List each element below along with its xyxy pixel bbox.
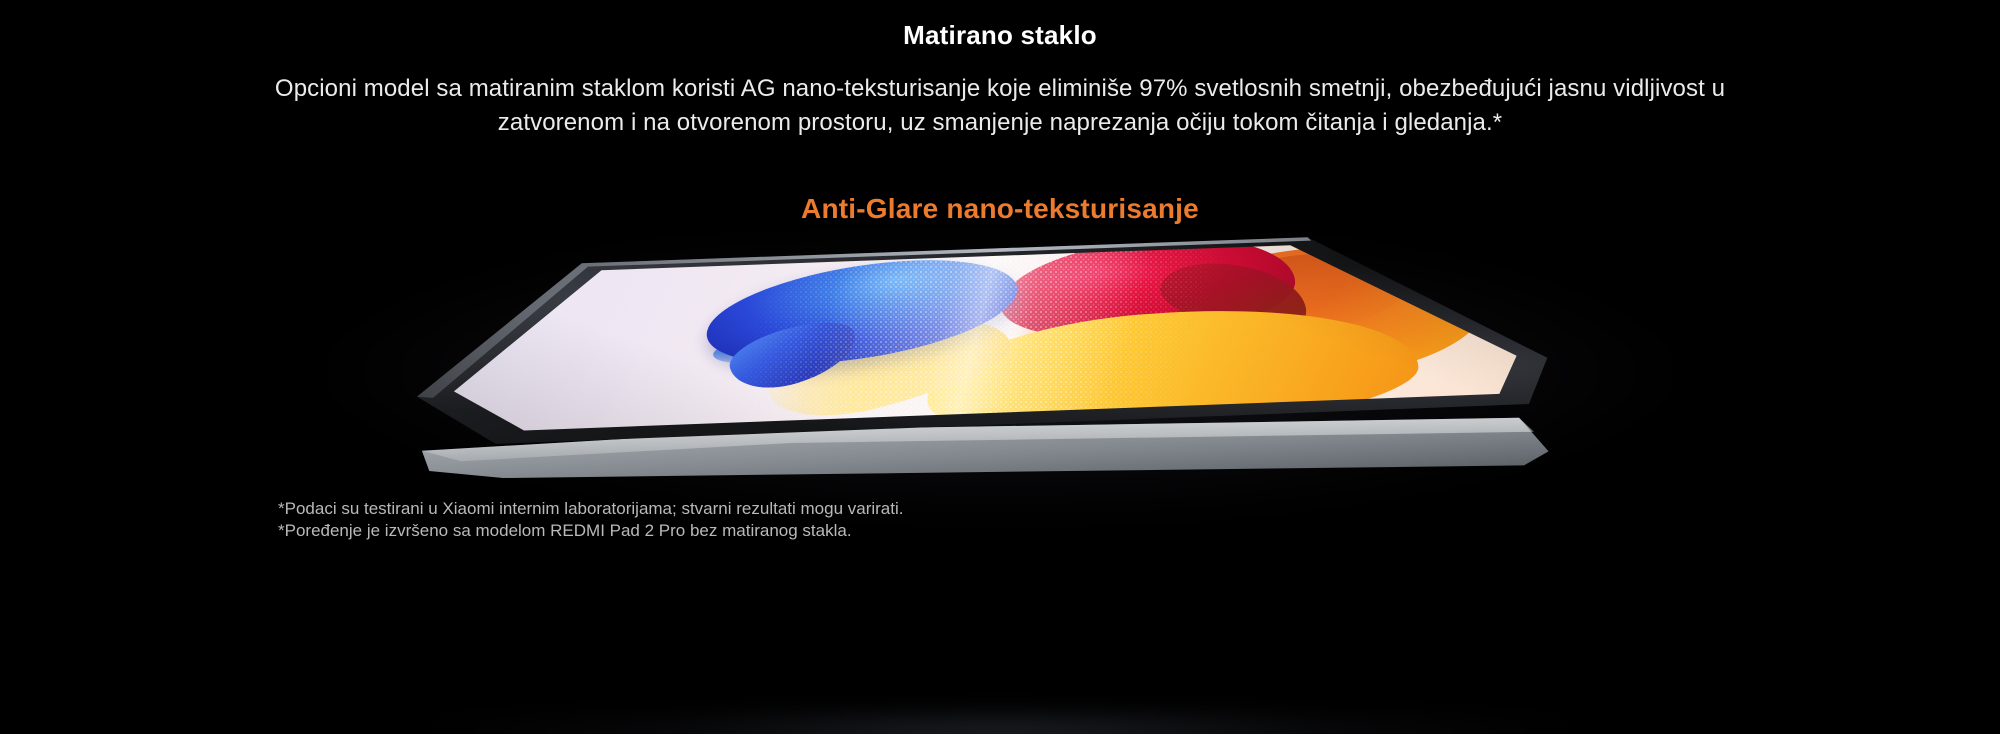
tablet-device <box>385 236 1615 516</box>
device-drop-shadow <box>410 718 1590 734</box>
footnote-line-1: *Podaci su testirani u Xiaomi internim l… <box>278 498 903 520</box>
footnote-line-2: *Poređenje je izvršeno sa modelom REDMI … <box>278 520 903 542</box>
page-description: Opcioni model sa matiranim staklom koris… <box>260 72 1740 140</box>
device-stage <box>0 236 2000 526</box>
page-title: Matirano staklo <box>0 20 2000 50</box>
matte-glass-feature-page: Matirano staklo Opcioni model sa matiran… <box>0 0 2000 734</box>
feature-heading: Anti-Glare nano-teksturisanje <box>0 192 2000 226</box>
footnotes: *Podaci su testirani u Xiaomi internim l… <box>278 498 903 542</box>
